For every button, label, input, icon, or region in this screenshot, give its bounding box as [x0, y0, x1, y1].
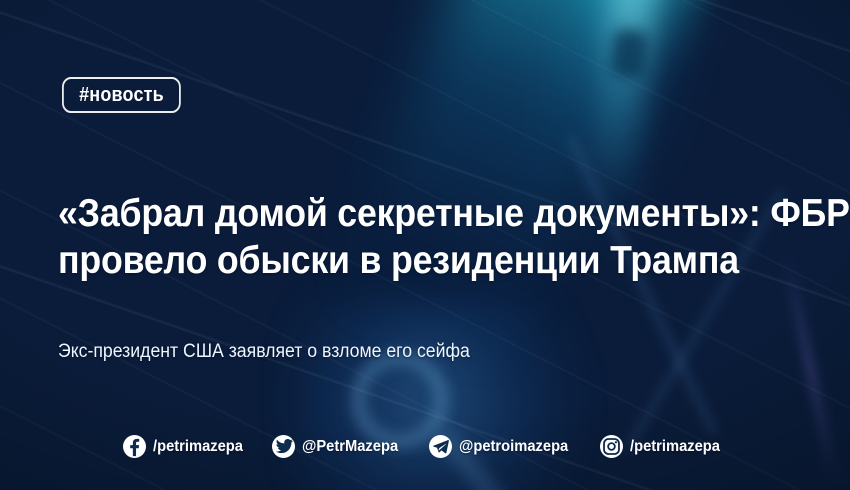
social-handle-instagram: /petrimazepa — [630, 438, 720, 456]
social-handle-telegram: @petroimazepa — [459, 438, 568, 456]
headline-line-2: провело обыски в резиденции Трампа — [58, 237, 726, 284]
headline: «Забрал домой секретные документы»: ФБР … — [58, 190, 726, 284]
category-tag-label: #новость — [79, 84, 164, 107]
headline-line-1: «Забрал домой секретные документы»: ФБР — [58, 190, 726, 237]
subtitle: Экс-президент США заявляет о взломе его … — [58, 341, 470, 363]
facebook-icon — [123, 435, 146, 458]
social-links-row: /petrimazepa @PetrMazepa @petroimazepa — [0, 435, 850, 458]
instagram-icon — [600, 435, 623, 458]
social-link-twitter[interactable]: @PetrMazepa — [272, 435, 407, 458]
social-handle-twitter: @PetrMazepa — [302, 438, 398, 456]
social-link-telegram[interactable]: @petroimazepa — [429, 435, 578, 458]
social-link-instagram[interactable]: /petrimazepa — [600, 435, 728, 458]
social-handle-facebook: /petrimazepa — [153, 438, 243, 456]
news-card: #новость «Забрал домой секретные докумен… — [0, 0, 850, 490]
twitter-icon — [272, 435, 295, 458]
category-tag: #новость — [62, 77, 181, 113]
telegram-icon — [429, 435, 452, 458]
social-link-facebook[interactable]: /petrimazepa — [123, 435, 251, 458]
